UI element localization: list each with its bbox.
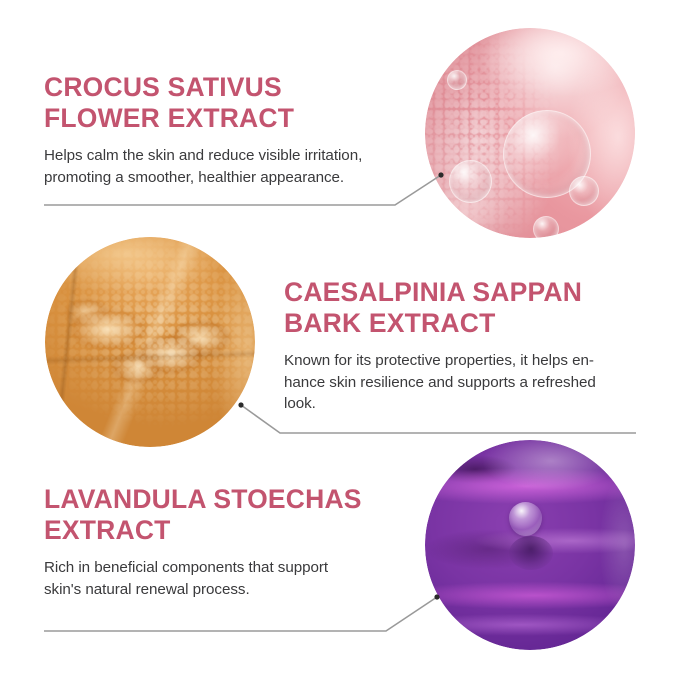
bubble-xtiny-icon — [533, 216, 559, 238]
section-lavandula-stoechas-extract: LAVANDULA STOECHAS EXTRACT Rich in benef… — [44, 484, 424, 600]
amber-gel-swatch — [45, 237, 255, 447]
amber-gel-microbubbles — [45, 237, 255, 447]
bubble-small-icon — [569, 176, 599, 206]
section-crocus-sativus-flower-extract: CROCUS SATIVUS FLOWER EXTRACT Helps calm… — [44, 72, 424, 188]
section-description: Rich in beneficial components that suppo… — [44, 557, 424, 600]
water-droplet-shadow — [509, 536, 553, 570]
section-caesalpinia-sappan-bark-extract: CAESALPINIA SAPPAN BARK EXTRACT Known fo… — [284, 277, 642, 415]
section-description: Known for its protective properties, it … — [284, 350, 642, 415]
section-title: CAESALPINIA SAPPAN BARK EXTRACT — [284, 277, 642, 339]
bubble-medium-icon — [449, 160, 492, 203]
bubble-tiny-icon — [447, 70, 467, 90]
section-description: Helps calm the skin and reduce visible i… — [44, 145, 424, 188]
infographic-page: CROCUS SATIVUS FLOWER EXTRACT Helps calm… — [0, 0, 679, 679]
section-title: LAVANDULA STOECHAS EXTRACT — [44, 484, 424, 546]
connector-line-3 — [44, 597, 437, 631]
purple-liquid-swatch — [425, 440, 635, 650]
connector-dot-2 — [238, 402, 243, 407]
pink-gel-swatch — [425, 28, 635, 238]
section-title: CROCUS SATIVUS FLOWER EXTRACT — [44, 72, 424, 134]
